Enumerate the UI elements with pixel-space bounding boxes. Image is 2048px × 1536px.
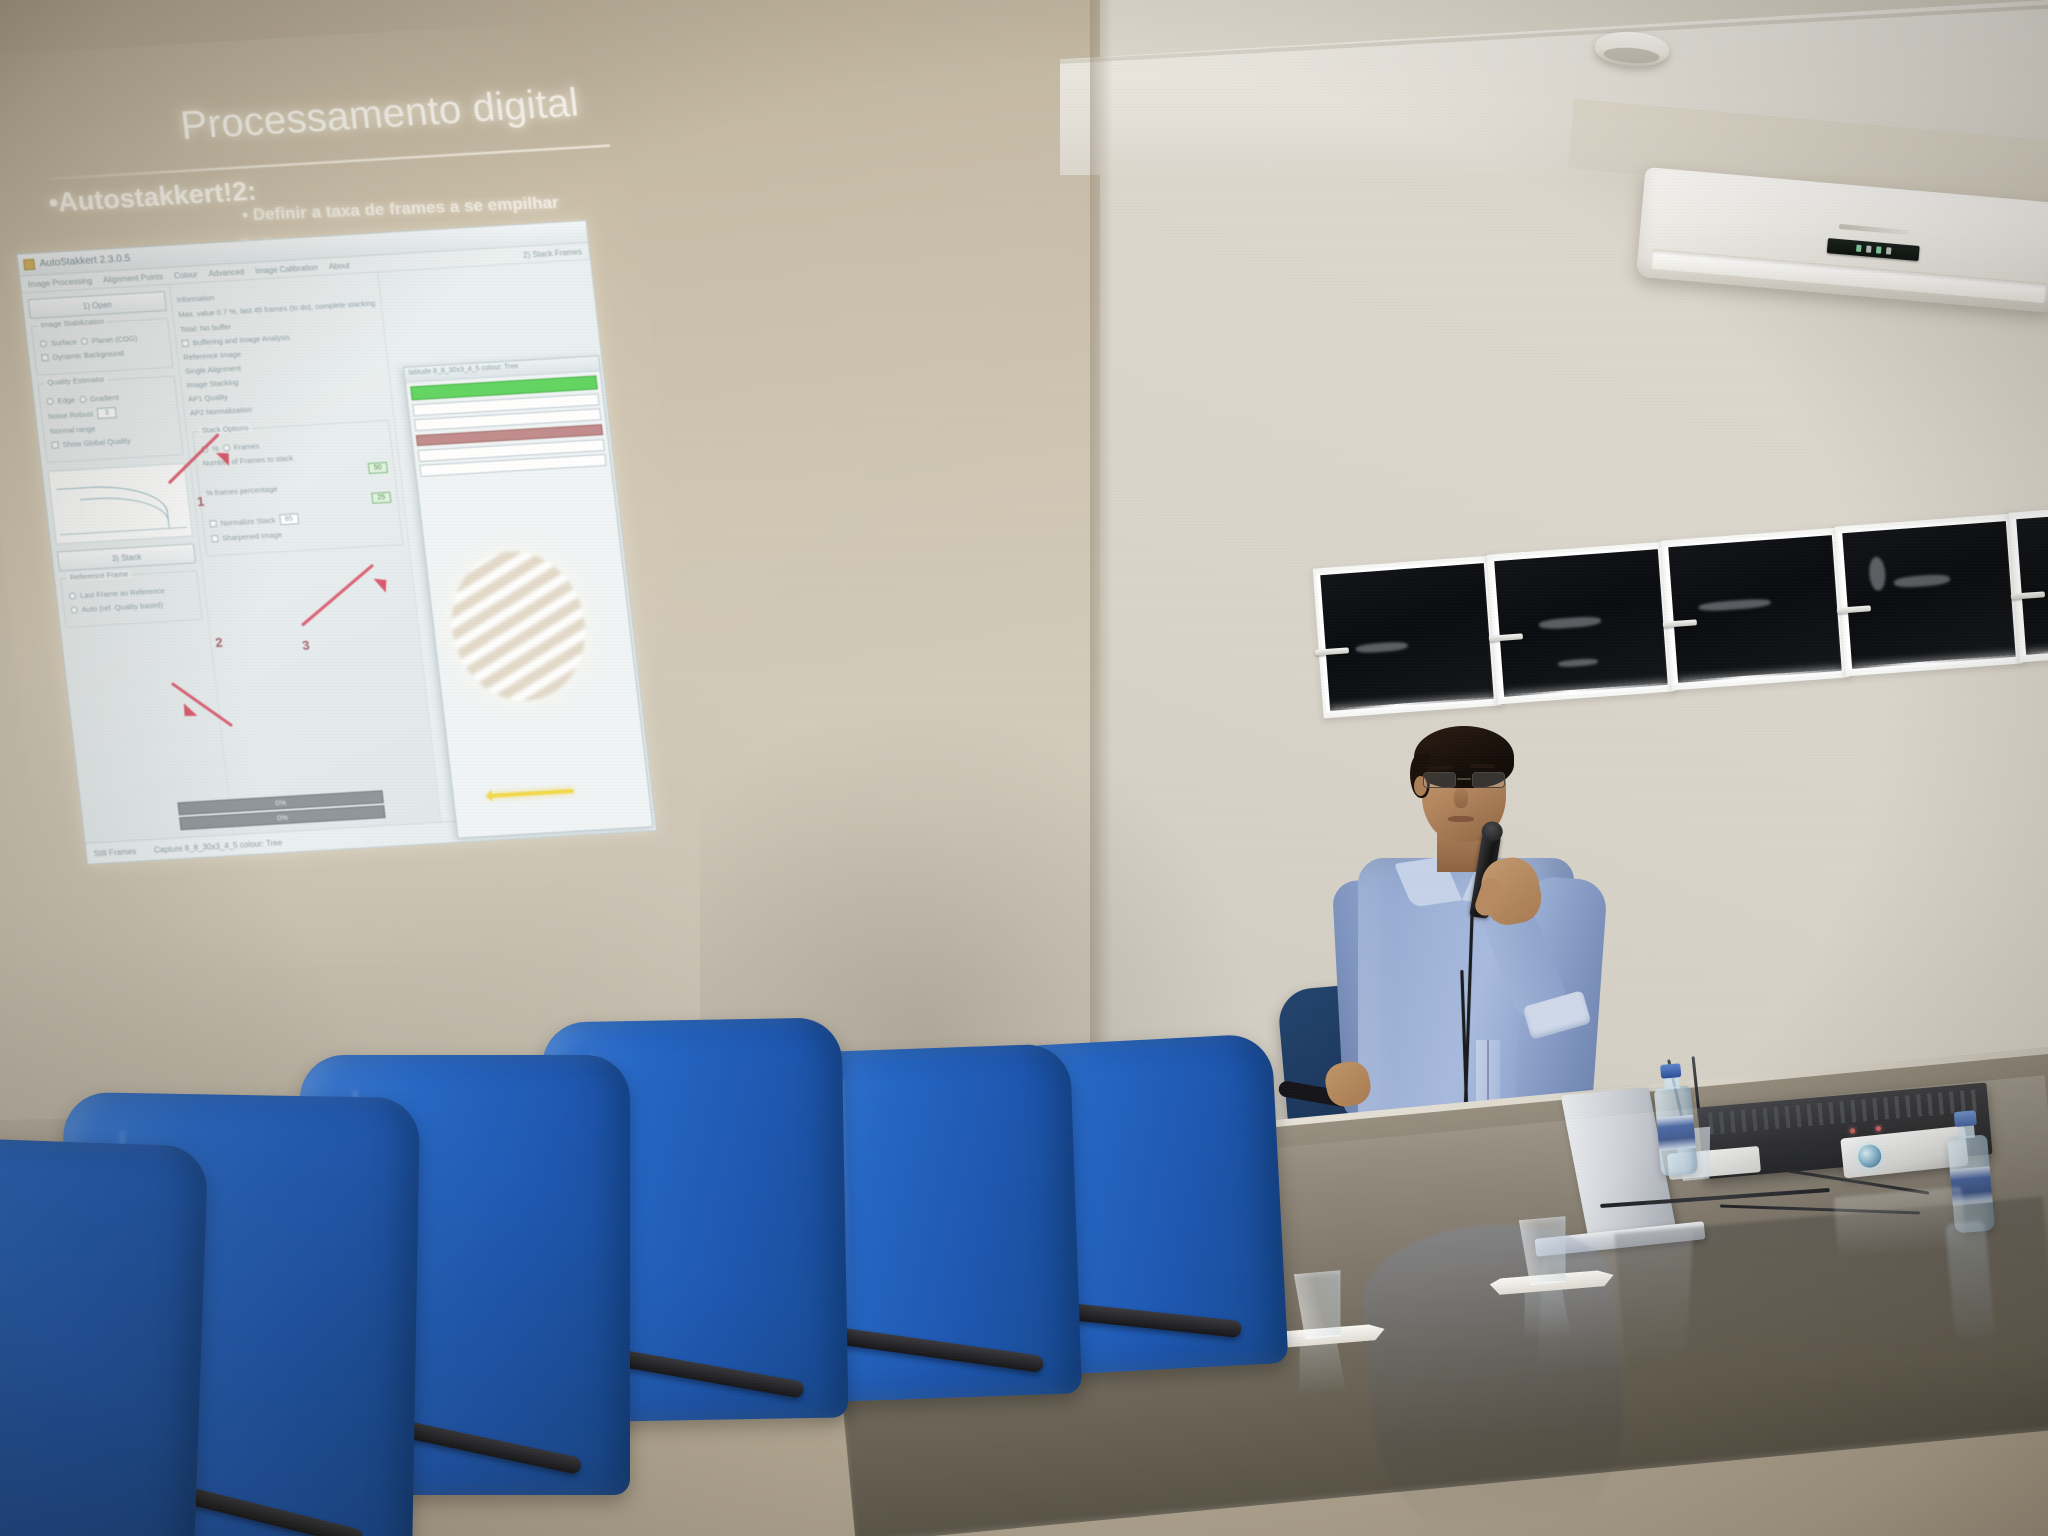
info-option-label: Single Alignment [185,364,242,376]
bottle-label [1656,1115,1696,1151]
presenter-nose [1454,788,1468,808]
conference-room-photo: Processamento digital •Autostakkert!2: •… [0,0,2048,1536]
checkbox-icon[interactable] [181,340,189,347]
planet-preview-image [444,548,593,705]
normal-range-label: Normal range [49,424,95,436]
radio-label-auto: Auto (ref. Quality based) [81,600,163,614]
panel-surface [1494,549,1668,697]
noise-robust-stepper[interactable]: 3 [97,407,117,419]
menu-item-image-calibration[interactable]: Image Calibration [255,262,319,275]
info-option-label: AP1 Quality [188,393,229,404]
radio-icon[interactable] [79,396,87,403]
slide-subtitle: •Autostakkert!2: [47,176,258,219]
stack-frames-tab[interactable]: 2) Stack Frames [523,247,583,259]
checkbox-icon[interactable] [211,535,219,542]
slide-title: Processamento digital [178,81,581,149]
presenter-eyebrow [1470,764,1495,769]
radio-label-surface: Surface [50,337,77,347]
autostakkert-window: AutoStakkert 2.3.0.5 Image Processing Al… [16,220,657,865]
wall-panel [1487,542,1676,705]
menu-item-colour[interactable]: Colour [173,270,198,280]
info-option-label: Buffering and Image Analysis [192,333,290,348]
menu-item-about[interactable]: About [328,261,350,271]
checkbox-icon[interactable] [51,441,59,448]
percentage-stepper[interactable]: 25 [371,492,391,504]
bottle-cap-icon [1660,1063,1681,1079]
radio-icon[interactable] [39,340,47,347]
checkbox-icon[interactable] [41,354,49,361]
normalize-label: Normalize Stack [220,516,276,528]
group-caption: Image Stabilization [37,317,107,330]
panel-surface [1320,563,1494,711]
wall-panel [1313,556,1502,719]
info-option-label: Image Stacking [186,378,239,390]
projected-slide: Processamento digital •Autostakkert!2: •… [0,59,695,920]
checkbox-row-show-global-quality[interactable]: Show Global Quality [51,434,175,450]
checkbox-label: Show Global Quality [62,436,131,449]
radio-icon[interactable] [201,446,209,453]
radio-label-planet: Planet (COG) [91,334,137,346]
group-caption: Quality Estimator [44,375,108,388]
menu-item-advanced[interactable]: Advanced [208,267,245,278]
checkbox-label: Dynamic Background [52,349,124,362]
radio-row-last-frame[interactable]: Last Frame as Reference [69,585,193,601]
annotation-number-3: 3 [301,638,310,653]
wall-panel [1835,514,2024,677]
panel-surface [1842,521,2016,669]
radio-icon[interactable] [222,445,230,452]
group-quality-estimator: Quality Estimator Edge Gradient Noise Ro… [37,376,183,464]
radio-label-edge: Edge [57,395,76,405]
group-stack-options: Stack Options % Frames Number of Frames … [192,420,403,557]
bottle-cap-icon [1954,1110,1977,1127]
mixer-led-icon [1850,1128,1855,1133]
checkbox-row-dynamic-background[interactable]: Dynamic Background [41,346,165,362]
group-image-stabilization: Image Stabilization Surface Planet (COG)… [31,318,174,376]
wall-panel-row [1318,518,2048,728]
info-option-label: AP2 Normalization [189,405,252,418]
status-right-text: Capture 8_8_30x3_4_5 colour: Tree [154,838,283,855]
menu-item-alignment-points[interactable]: Alignment Points [102,272,163,285]
radio-icon[interactable] [80,338,88,345]
panel-surface [1668,535,1842,683]
radio-icon[interactable] [69,592,77,599]
ac-indicator-icon [1885,247,1891,254]
group-reference-frame: Reference Frame Last Frame as Reference … [60,570,203,628]
annotation-number-2: 2 [215,635,224,650]
ac-display-panel [1827,238,1920,261]
yellow-annotation-arrow [488,789,574,798]
group-caption: Reference Frame [66,569,131,582]
quality-graph [48,463,193,545]
information-label: Information [176,293,215,304]
normal-range-label-row: Normal range [49,420,173,436]
noise-robust-label: Noise Robust [48,409,94,421]
app-title-text: AutoStakkert 2.3.0.5 [39,253,131,269]
normalize-stepper[interactable]: 85 [279,513,299,525]
checkbox-icon[interactable] [209,520,217,527]
unit-percent-label: % [212,444,220,453]
glasses-icon [1422,772,1506,789]
radio-icon[interactable] [46,398,54,405]
radio-row-quality[interactable]: Edge Gradient [46,390,170,406]
presenter-mouth [1448,816,1474,822]
status-left-text: Still Frames [93,846,136,857]
radio-icon[interactable] [70,606,78,613]
unit-frames-label: Frames [233,442,259,452]
sharpened-label: Sharpened Image [222,530,283,542]
stack-button[interactable]: 3) Stack [57,543,196,571]
chair[interactable] [0,1134,208,1536]
device-lens-icon [1857,1144,1882,1169]
app-logo-icon [23,259,35,271]
annotation-number-1: 1 [196,494,205,509]
group-caption: Stack Options [198,423,252,435]
menu-item-image-processing[interactable]: Image Processing [27,276,92,289]
number-frames-stepper[interactable]: 50 [368,462,388,474]
radio-row-auto-quality[interactable]: Auto (ref. Quality based) [70,598,194,614]
slide-title-rule [50,145,610,180]
ac-indicator-icon [1875,246,1881,253]
wall-panel [1661,528,1850,691]
slide-bullet: • Definir a taxa de frames a se empilhar [241,193,559,226]
noise-robust-row[interactable]: Noise Robust 3 [48,404,172,422]
radio-label-last-frame: Last Frame as Reference [80,586,166,600]
radio-label-gradient: Gradient [90,393,120,404]
mixer-led-icon [1876,1126,1881,1131]
ac-indicator-icon [1856,245,1862,252]
radio-row-surface[interactable]: Surface Planet (COG) [39,332,163,348]
ac-indicator-icon [1865,245,1871,252]
bottle-label [1950,1166,1993,1205]
ac-brand-mark [1839,224,1909,235]
open-button[interactable]: 1) Open [28,291,167,319]
info-option-label: Reference Image [183,350,242,362]
